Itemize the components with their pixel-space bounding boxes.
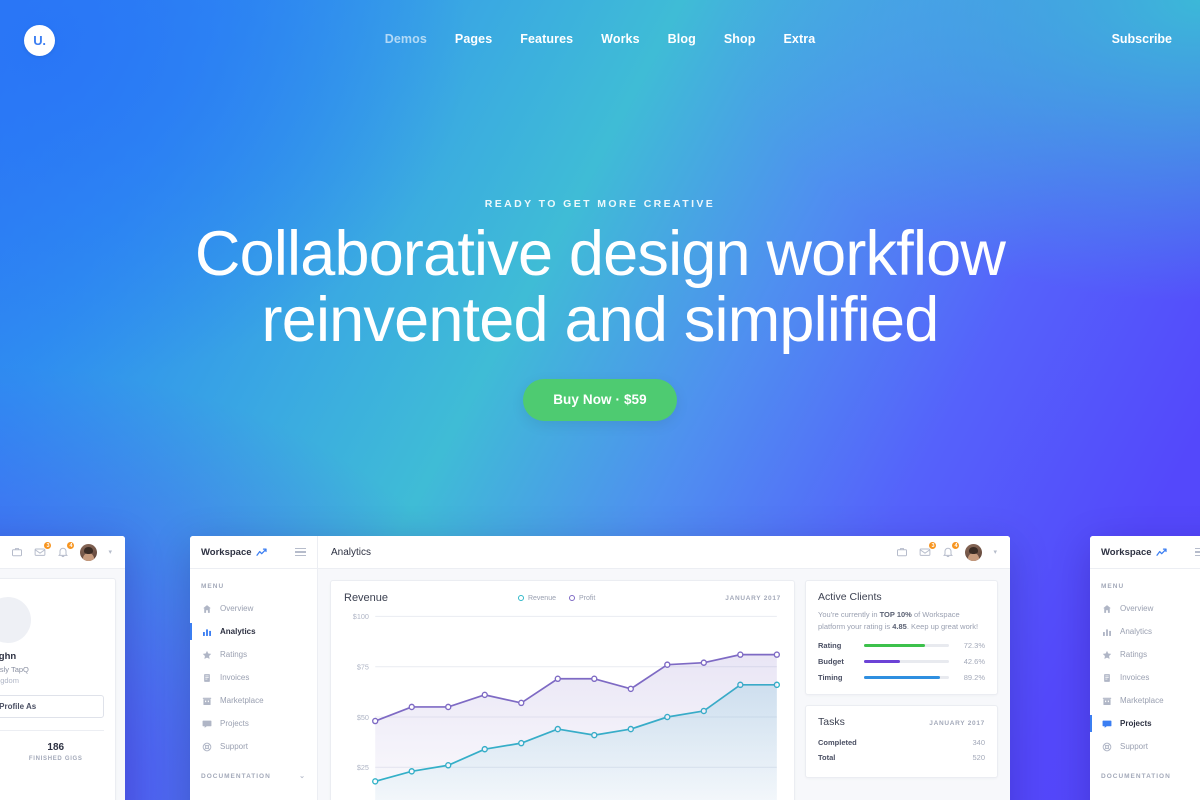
profile-stats: 4 NTS 186 FINISHED GIGS <box>0 730 104 762</box>
tasks-value-completed: 340 <box>972 738 985 747</box>
page-title: Analytics <box>331 547 371 558</box>
legend-label-profit: Profit <box>579 595 595 602</box>
ac-fill-budget <box>864 660 900 663</box>
profile-location: ngdom <box>0 676 104 685</box>
svg-text:$100: $100 <box>353 612 369 621</box>
profile-stat-clients-label: NTS <box>0 756 8 762</box>
store-icon <box>201 696 212 706</box>
sidebar-item-overview-right[interactable]: Overview <box>1090 597 1200 620</box>
tasks-label-completed: Completed <box>818 738 857 747</box>
sidebar-section-menu-right: MENU <box>1090 569 1200 597</box>
sidebar-section-menu-label-right: MENU <box>1101 583 1124 590</box>
side-cards-column: Active Clients You're currently in TOP 1… <box>805 580 998 800</box>
sidebar-item-ratings-label-right: Ratings <box>1120 650 1147 659</box>
ac-desc-top: TOP 10% <box>880 610 912 619</box>
active-clients-row-timing: Timing 89.2% <box>818 673 985 682</box>
ac-value-rating: 72.3% <box>957 641 985 650</box>
sidebar-item-invoices-label-right: Invoices <box>1120 673 1149 682</box>
sidebar-item-projects-right[interactable]: Projects <box>1090 712 1200 735</box>
workspace-brand[interactable]: Workspace <box>201 547 267 558</box>
user-avatar[interactable] <box>80 544 97 561</box>
nav-item-blog[interactable]: Blog <box>668 32 696 46</box>
chart-column: Revenue Revenue Profit <box>330 580 795 800</box>
profile-stat-gigs-label: FINISHED GIGS <box>8 756 105 762</box>
legend-label-revenue: Revenue <box>528 595 556 602</box>
workspace-brand-right[interactable]: Workspace <box>1101 547 1167 558</box>
svg-text:$25: $25 <box>357 763 369 772</box>
sidebar-section-menu: MENU <box>190 569 317 597</box>
invoice-icon <box>201 673 212 683</box>
trend-up-icon <box>256 548 267 557</box>
revenue-period: JANUARY 2017 <box>725 595 781 602</box>
tasks-card-header: Tasks JANUARY 2017 <box>818 716 985 728</box>
hero-headline: Collaborative design workflow reinvented… <box>0 222 1200 353</box>
ac-track-budget <box>864 660 949 663</box>
notifications-icon[interactable]: 4 <box>942 546 954 558</box>
trend-up-icon <box>1156 548 1167 557</box>
dashboard-topbar: Analytics 3 <box>318 536 1010 569</box>
nav-item-works[interactable]: Works <box>601 32 639 46</box>
sidebar-item-analytics-label: Analytics <box>220 627 256 636</box>
buy-now-button[interactable]: Buy Now · $59 <box>523 379 677 421</box>
ac-value-timing: 89.2% <box>957 673 985 682</box>
sidebar-section-menu-label: MENU <box>201 583 224 590</box>
dashboard-mock-left: 3 4 ▾ ghn viously TapQ ngdom View Profil… <box>0 536 125 800</box>
briefcase-icon[interactable] <box>11 546 23 558</box>
notifications-badge: 4 <box>66 541 75 550</box>
user-avatar[interactable] <box>965 544 982 561</box>
tasks-row-completed: Completed 340 <box>818 735 985 750</box>
sidebar-item-ratings[interactable]: Ratings <box>190 643 317 666</box>
sidebar-item-analytics-right[interactable]: Analytics <box>1090 620 1200 643</box>
sidebar-item-support-right[interactable]: Support <box>1090 735 1200 758</box>
workspace-brand-label-right: Workspace <box>1101 547 1152 558</box>
sidebar-section-documentation[interactable]: DOCUMENTATION ⌄ <box>190 758 317 787</box>
profile-name: ghn <box>0 651 104 662</box>
profile-card: ghn viously TapQ ngdom View Profile As 4… <box>0 578 116 800</box>
tasks-value-total: 520 <box>972 753 985 762</box>
dashboard-mock-right: Workspace MENU Overview Analytics <box>1090 536 1200 800</box>
left-topbar-icons: 3 4 ▾ <box>11 544 112 561</box>
svg-text:$75: $75 <box>357 662 369 671</box>
chevron-down-icon[interactable]: ▾ <box>108 548 112 556</box>
sidebar-item-invoices-label: Invoices <box>220 673 249 682</box>
active-clients-description: You're currently in TOP 10% of Workspace… <box>818 609 985 632</box>
ac-track-rating <box>864 644 949 647</box>
dashboard-main: Analytics 3 <box>318 536 1010 800</box>
chart-legend: Revenue Profit <box>518 595 595 602</box>
sidebar-item-support[interactable]: Support <box>190 735 317 758</box>
lifebuoy-icon <box>1101 742 1112 752</box>
sidebar-toggle-icon[interactable] <box>1195 548 1200 556</box>
subscribe-link[interactable]: Subscribe <box>1112 32 1172 46</box>
profile-avatar <box>0 597 31 643</box>
messages-badge: 3 <box>928 541 937 550</box>
view-profile-as-button[interactable]: View Profile As <box>0 695 104 718</box>
active-clients-row-rating: Rating 72.3% <box>818 641 985 650</box>
legend-item-profit[interactable]: Profit <box>569 595 595 602</box>
lifebuoy-icon <box>201 742 212 752</box>
chevron-down-icon[interactable]: ⌄ <box>299 772 306 780</box>
hero-headline-line2: reinvented and simplified <box>0 288 1200 354</box>
sidebar-item-analytics-label-right: Analytics <box>1120 627 1152 636</box>
sidebar-section-documentation-right[interactable]: DOCUMENTATION ⌄ <box>1090 758 1200 787</box>
profile-subtitle: viously TapQ <box>0 665 104 674</box>
sidebar-item-overview[interactable]: Overview <box>190 597 317 620</box>
sidebar-header: Workspace <box>190 536 317 569</box>
ac-label-timing: Timing <box>818 673 856 682</box>
chevron-down-icon[interactable]: ▾ <box>993 548 997 556</box>
messages-badge: 3 <box>43 541 52 550</box>
chat-icon <box>201 719 212 729</box>
active-clients-card: Active Clients You're currently in TOP 1… <box>805 580 998 695</box>
messages-icon[interactable]: 3 <box>919 546 931 558</box>
sidebar-item-overview-label-right: Overview <box>1120 604 1153 613</box>
sidebar-section-documentation-label-right: DOCUMENTATION <box>1101 773 1171 780</box>
dashboard-content: Revenue Revenue Profit <box>318 569 1010 800</box>
svg-text:$50: $50 <box>357 713 369 722</box>
legend-dot-profit <box>569 595 575 601</box>
hero-eyebrow: READY TO GET MORE CREATIVE <box>0 198 1200 210</box>
star-icon <box>201 650 212 660</box>
nav-item-demos[interactable]: Demos <box>385 32 427 46</box>
tasks-row-total: Total 520 <box>818 750 985 765</box>
ac-track-timing <box>864 676 949 679</box>
ac-label-rating: Rating <box>818 641 856 650</box>
revenue-title: Revenue <box>344 592 388 604</box>
legend-dot-revenue <box>518 595 524 601</box>
profile-stat-clients: 4 NTS <box>0 742 8 762</box>
sidebar-item-overview-label: Overview <box>220 604 253 613</box>
sidebar-item-invoices[interactable]: Invoices <box>190 666 317 689</box>
sidebar-item-marketplace-label-right: Marketplace <box>1120 696 1164 705</box>
dashboard-mock-center: Workspace MENU Overview <box>190 536 1010 800</box>
sidebar-item-analytics[interactable]: Analytics <box>190 620 317 643</box>
notifications-icon[interactable]: 4 <box>57 546 69 558</box>
home-icon <box>1101 604 1112 614</box>
active-clients-row-budget: Budget 42.6% <box>818 657 985 666</box>
tasks-period: JANUARY 2017 <box>929 720 985 727</box>
sidebar-item-marketplace-right[interactable]: Marketplace <box>1090 689 1200 712</box>
sidebar-item-ratings-right[interactable]: Ratings <box>1090 643 1200 666</box>
left-mock-topbar: 3 4 ▾ <box>0 536 125 569</box>
home-icon <box>201 604 212 614</box>
legend-item-revenue[interactable]: Revenue <box>518 595 556 602</box>
sidebar-item-projects-label-right: Projects <box>1120 719 1152 728</box>
ac-value-budget: 42.6% <box>957 657 985 666</box>
sidebar-item-marketplace[interactable]: Marketplace <box>190 689 317 712</box>
bar-chart-icon <box>1101 627 1112 637</box>
topbar-icons: 3 4 ▾ <box>896 544 997 561</box>
hero-cta-wrap: Buy Now · $59 <box>0 379 1200 421</box>
nav-item-extra[interactable]: Extra <box>783 32 815 46</box>
invoice-icon <box>1101 673 1112 683</box>
ac-desc-rating: 4.85 <box>892 622 907 631</box>
nav-item-shop[interactable]: Shop <box>724 32 756 46</box>
sidebar-item-invoices-right[interactable]: Invoices <box>1090 666 1200 689</box>
top-navbar: U. Demos Pages Features Works Blog Shop … <box>0 0 1200 82</box>
revenue-card-header: Revenue Revenue Profit <box>344 592 781 604</box>
active-clients-title: Active Clients <box>818 591 985 603</box>
revenue-card: Revenue Revenue Profit <box>330 580 795 800</box>
ac-fill-timing <box>864 676 940 679</box>
sidebar-item-marketplace-label: Marketplace <box>220 696 264 705</box>
sidebar-toggle-icon[interactable] <box>295 548 306 556</box>
profile-stat-gigs-value: 186 <box>8 742 105 753</box>
ac-desc-e: . Keep up great work! <box>907 622 978 631</box>
nav-item-features[interactable]: Features <box>520 32 573 46</box>
hero-headline-line1: Collaborative design workflow <box>195 219 1005 289</box>
nav-item-pages[interactable]: Pages <box>455 32 492 46</box>
sidebar-item-support-label-right: Support <box>1120 742 1148 751</box>
sidebar-item-support-label: Support <box>220 742 248 751</box>
dashboard-sidebar: Workspace MENU Overview <box>190 536 318 800</box>
workspace-brand-label: Workspace <box>201 547 252 558</box>
bar-chart-icon <box>201 627 212 637</box>
ac-label-budget: Budget <box>818 657 856 666</box>
notifications-badge: 4 <box>951 541 960 550</box>
sidebar-item-projects-label: Projects <box>220 719 249 728</box>
tasks-card: Tasks JANUARY 2017 Completed 340 Total 5… <box>805 705 998 778</box>
profile-stat-clients-value: 4 <box>0 742 8 753</box>
store-icon <box>1101 696 1112 706</box>
ac-desc-a: You're currently in <box>818 610 880 619</box>
ac-fill-rating <box>864 644 925 647</box>
tasks-title: Tasks <box>818 716 845 728</box>
revenue-chart[interactable]: $25$50$75$100 <box>344 610 781 800</box>
briefcase-icon[interactable] <box>896 546 908 558</box>
tasks-label-total: Total <box>818 753 835 762</box>
sidebar-item-projects[interactable]: Projects <box>190 712 317 735</box>
dashboard-sidebar-right: Workspace MENU Overview Analytics <box>1090 536 1200 800</box>
sidebar-item-ratings-label: Ratings <box>220 650 247 659</box>
sidebar-section-documentation-label: DOCUMENTATION <box>201 773 271 780</box>
chat-icon <box>1101 719 1112 729</box>
sidebar-header-right: Workspace <box>1090 536 1200 569</box>
primary-nav: Demos Pages Features Works Blog Shop Ext… <box>0 32 1200 46</box>
star-icon <box>1101 650 1112 660</box>
profile-stat-gigs: 186 FINISHED GIGS <box>8 742 105 762</box>
messages-icon[interactable]: 3 <box>34 546 46 558</box>
